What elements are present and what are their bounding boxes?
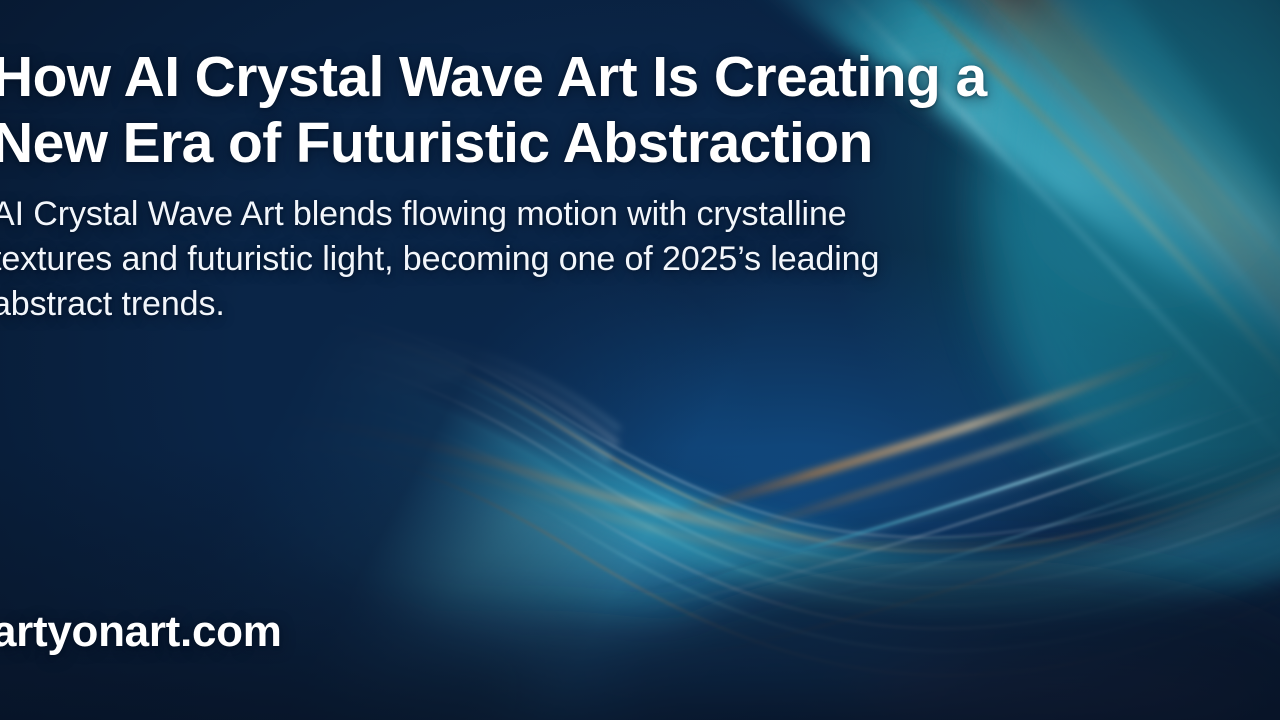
article-hero-banner: How AI Crystal Wave Art Is Creating a Ne…	[0, 0, 1280, 720]
hero-text-block: How AI Crystal Wave Art Is Creating a Ne…	[0, 44, 1212, 327]
page-subtitle: AI Crystal Wave Art blends flowing motio…	[0, 192, 1212, 327]
page-title: How AI Crystal Wave Art Is Creating a Ne…	[0, 44, 1212, 176]
site-domain-label: artyonart.com	[0, 606, 282, 658]
